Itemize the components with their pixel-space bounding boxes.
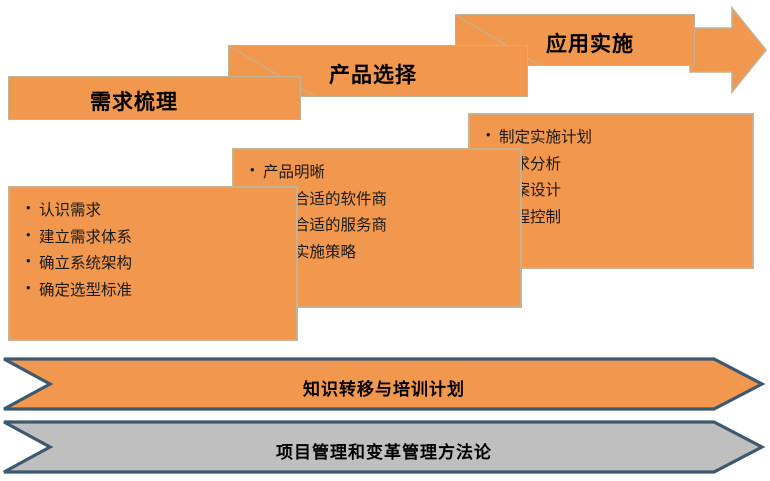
step-label-2: 产品选择	[329, 59, 417, 89]
list-item: 过程控制	[486, 205, 738, 232]
list-item: 需求分析	[486, 152, 738, 179]
banner-methodology[interactable]: 项目管理和变革管理方法论	[2, 420, 766, 474]
diagram-canvas: 应用实施 产品选择 需求梳理 制定实施计划 需求分析 方案设计 过程控制 产品明…	[0, 0, 770, 481]
banner-label-methodology: 项目管理和变革管理方法论	[2, 438, 766, 463]
list-item: 确立系统架构	[26, 251, 282, 278]
list-item: 建立需求体系	[26, 225, 282, 252]
step-label-3: 应用实施	[546, 28, 634, 58]
detail-list-1: 认识需求 建立需求体系 确立系统架构 确定选型标准	[26, 198, 282, 305]
banner-knowledge-transfer[interactable]: 知识转移与培训计划	[2, 357, 766, 411]
list-item: 认识需求	[26, 198, 282, 225]
list-item: 产品明晰	[250, 160, 506, 187]
list-item: 方案设计	[486, 178, 738, 205]
step-label-1: 需求梳理	[90, 86, 178, 116]
detail-box-1[interactable]: 认识需求 建立需求体系 确立系统架构 确定选型标准	[8, 186, 298, 341]
banner-label-knowledge-transfer: 知识转移与培训计划	[2, 375, 766, 400]
list-item: 制定实施计划	[486, 125, 738, 152]
list-item: 确定选型标准	[26, 278, 282, 305]
detail-list-3: 制定实施计划 需求分析 方案设计 过程控制	[486, 125, 738, 232]
arrow-head-icon	[688, 6, 768, 94]
